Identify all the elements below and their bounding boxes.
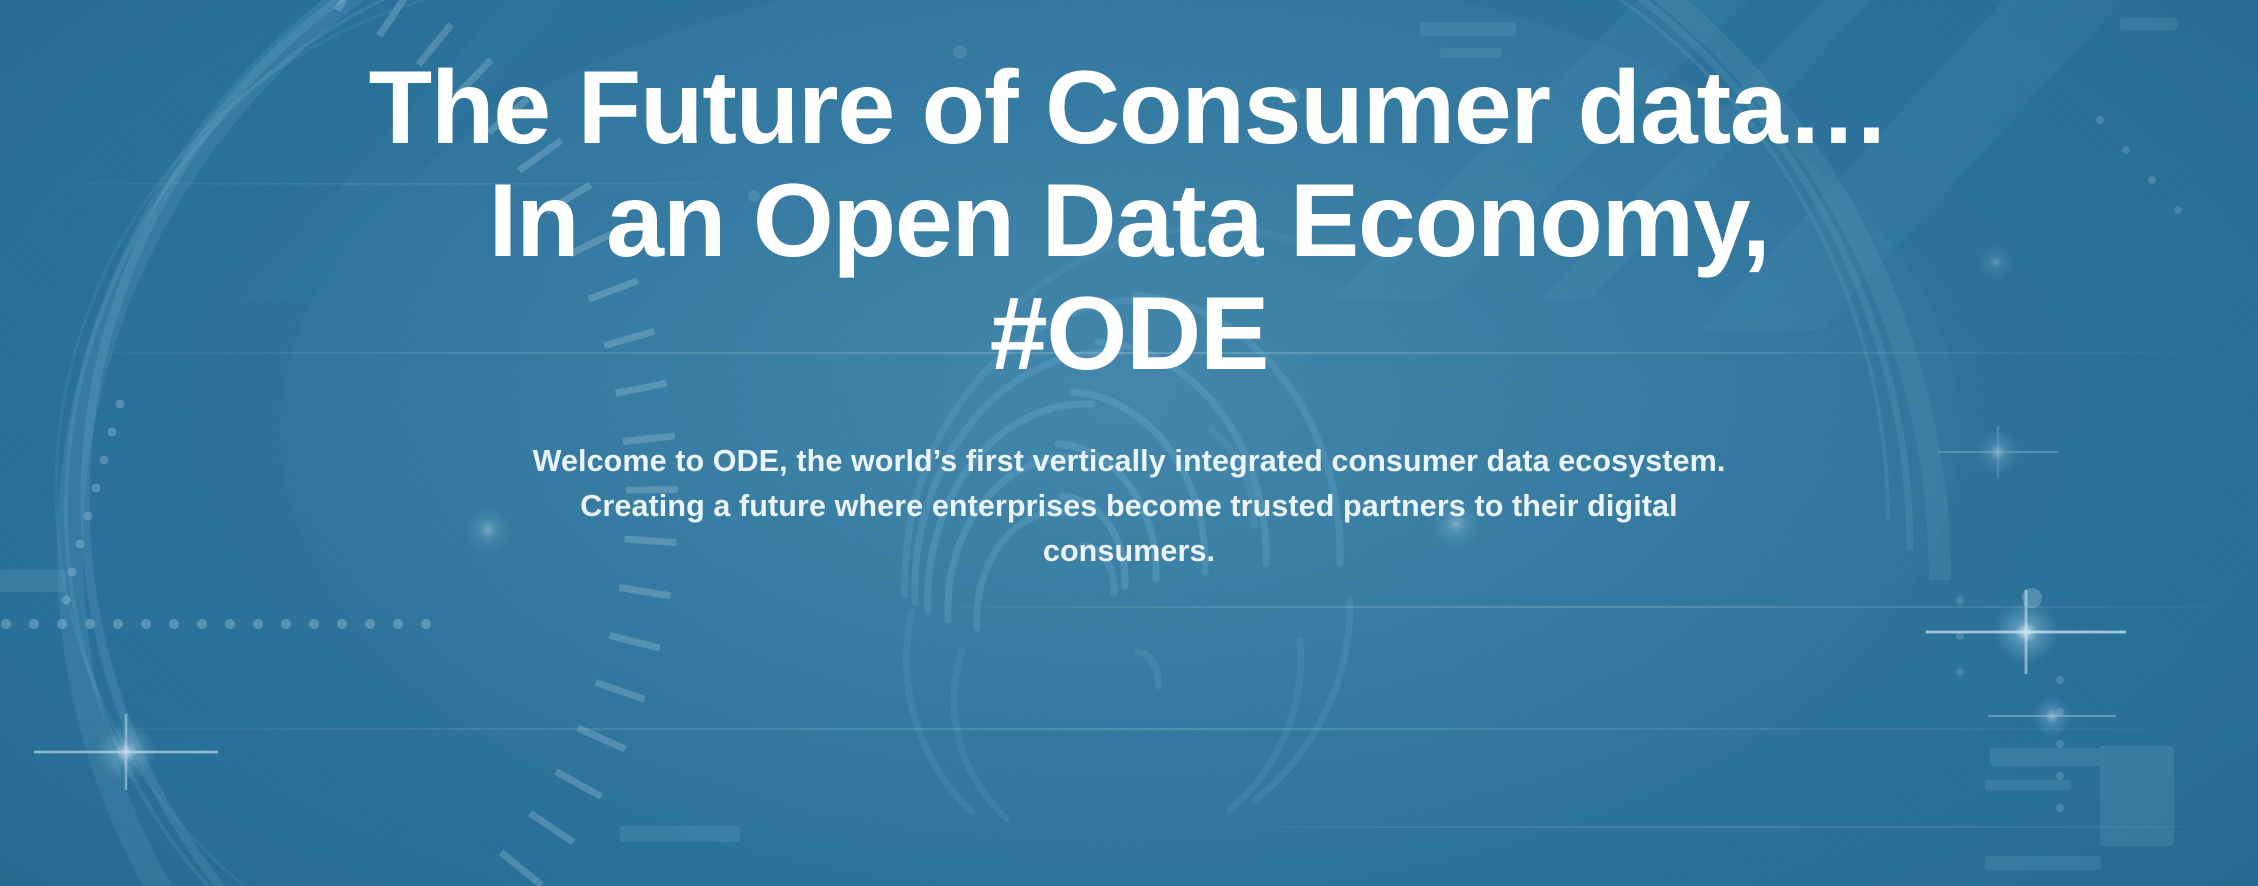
headline-line-1: The Future of Consumer data… [0,52,2258,165]
hero-content: The Future of Consumer data… In an Open … [0,0,2258,886]
subtitle-line-2: Creating a future where enterprises beco… [254,484,2004,529]
page-title: The Future of Consumer data… In an Open … [0,52,2258,391]
headline-line-2: In an Open Data Economy, [0,165,2258,278]
hero-banner: The Future of Consumer data… In an Open … [0,0,2258,886]
hero-subtitle: Welcome to ODE, the world’s first vertic… [254,439,2004,574]
subtitle-line-1: Welcome to ODE, the world’s first vertic… [254,439,2004,484]
headline-line-3: #ODE [0,278,2258,391]
subtitle-line-3: consumers. [254,529,2004,574]
